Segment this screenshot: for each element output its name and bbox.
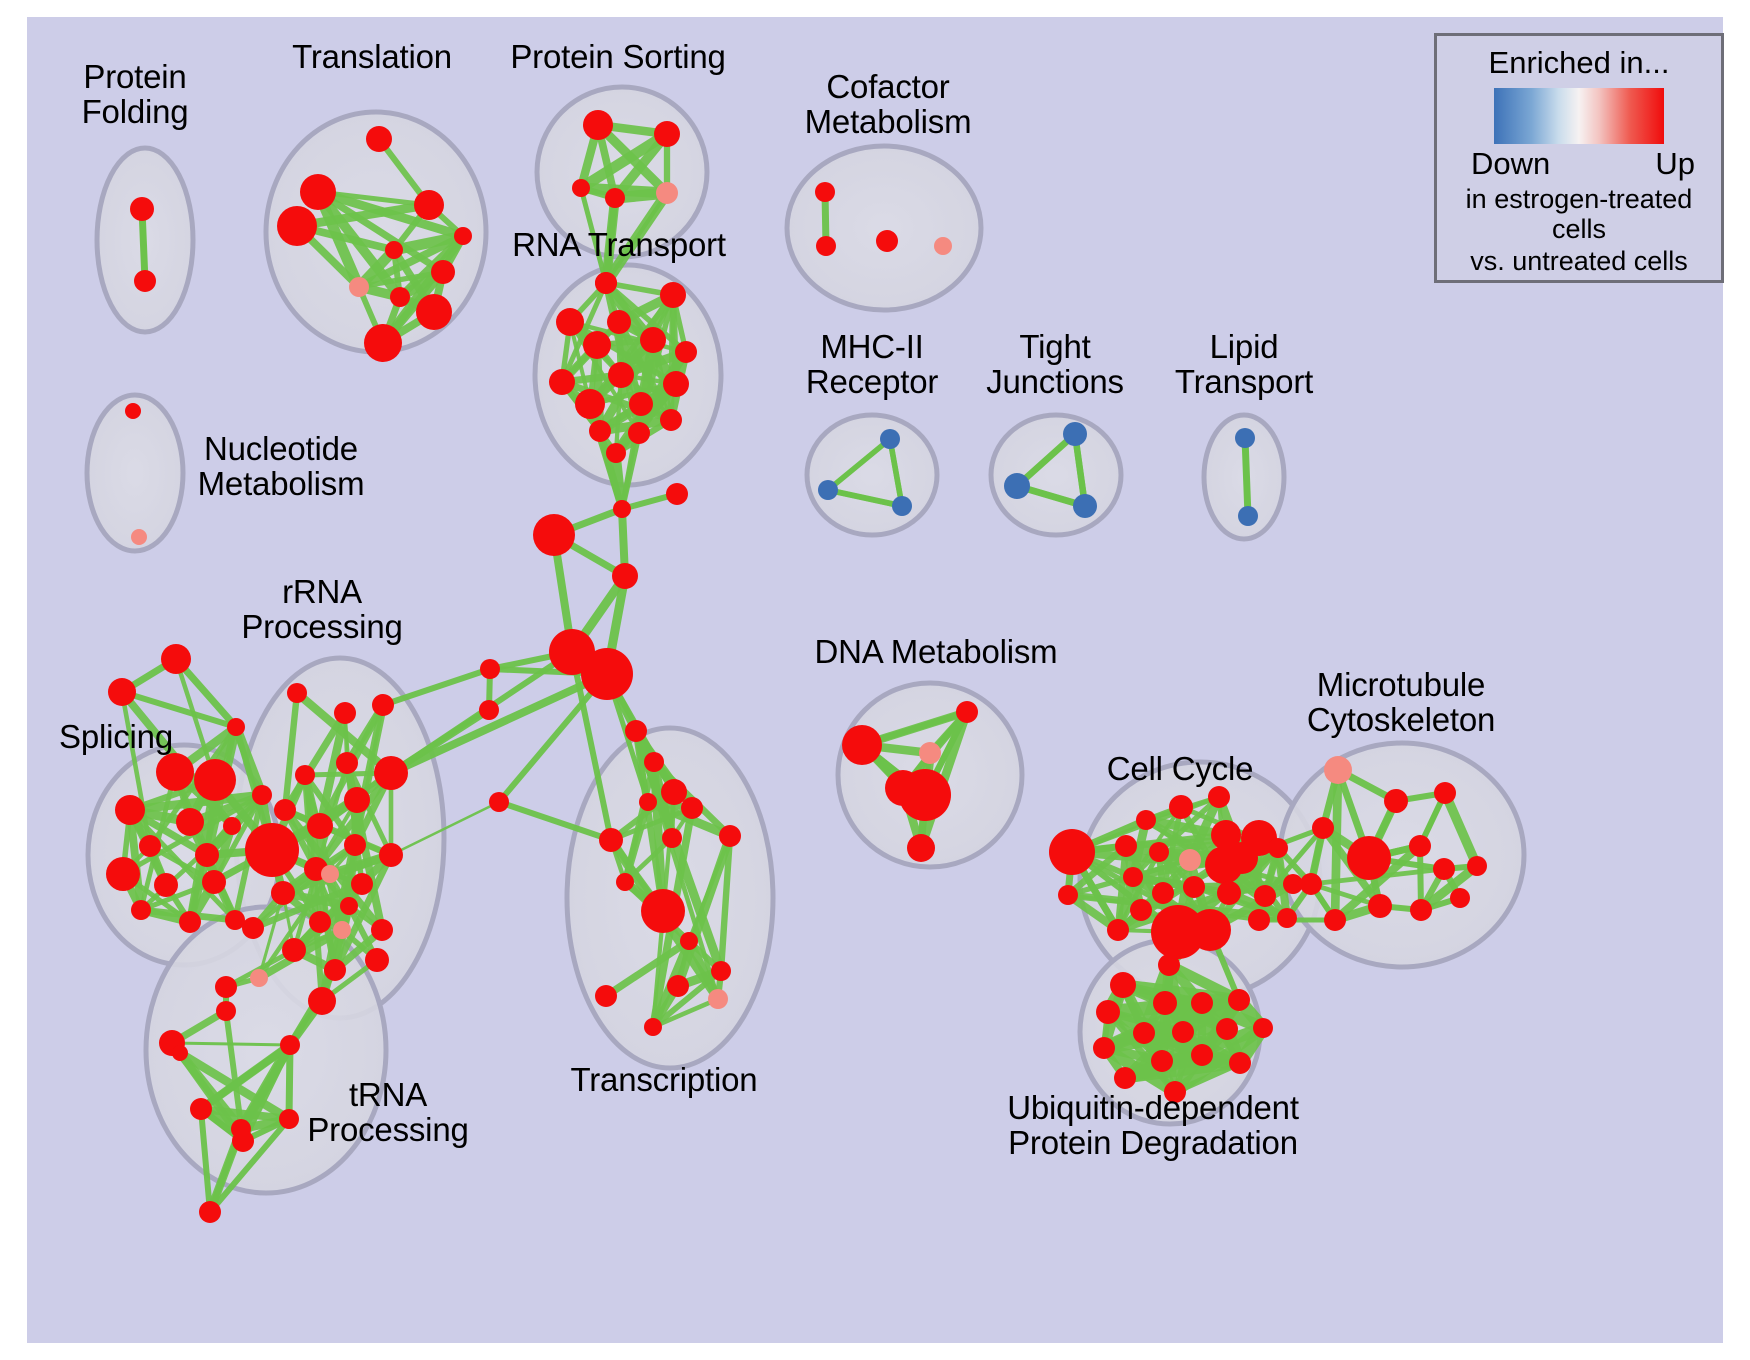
gene-set-node[interactable] [656, 182, 678, 204]
gene-set-node[interactable] [575, 389, 605, 419]
gene-set-node[interactable] [1107, 919, 1129, 941]
gene-set-node[interactable] [279, 1109, 299, 1129]
gene-set-node[interactable] [227, 718, 245, 736]
gene-set-node[interactable] [662, 828, 682, 848]
gene-set-node[interactable] [1253, 1018, 1273, 1038]
gene-set-node[interactable] [215, 976, 237, 998]
gene-set-node[interactable] [1189, 909, 1231, 951]
gene-set-node[interactable] [223, 817, 241, 835]
gene-set-node[interactable] [300, 174, 336, 210]
gene-set-node[interactable] [1093, 1037, 1115, 1059]
legend-end-labels: Down Up [1471, 146, 1695, 182]
gene-set-node[interactable] [1191, 992, 1213, 1014]
gene-set-node[interactable] [907, 834, 935, 862]
gene-set-node[interactable] [232, 1130, 254, 1152]
gene-set-node[interactable] [277, 206, 317, 246]
gene-set-node[interactable] [681, 797, 703, 819]
gene-set-node[interactable] [190, 1098, 212, 1120]
legend-subtitle-line-1: in estrogen-treated cells [1437, 184, 1721, 244]
gene-set-node[interactable] [416, 294, 452, 330]
gene-set-node[interactable] [640, 327, 666, 353]
gene-set-node[interactable] [379, 843, 403, 867]
gene-set-node[interactable] [934, 237, 952, 255]
gene-set-node[interactable] [344, 787, 370, 813]
gene-set-node[interactable] [899, 769, 951, 821]
gene-set-node[interactable] [589, 420, 611, 442]
gene-set-node[interactable] [1312, 817, 1334, 839]
gene-set-node[interactable] [454, 227, 472, 245]
gene-set-node[interactable] [816, 236, 836, 256]
gene-set-node[interactable] [1228, 989, 1250, 1011]
gene-set-node[interactable] [1217, 881, 1241, 905]
gene-set-node[interactable] [334, 702, 356, 724]
gene-set-node[interactable] [616, 873, 634, 891]
gene-set-node[interactable] [431, 260, 455, 284]
gene-set-node[interactable] [125, 403, 141, 419]
gene-set-node[interactable] [1268, 838, 1288, 858]
gene-set-node[interactable] [660, 409, 682, 431]
gene-set-node[interactable] [644, 752, 664, 772]
gene-set-node[interactable] [1153, 991, 1177, 1015]
gene-set-node[interactable] [1324, 909, 1346, 931]
legend-panel: Enriched in... Down Up in estrogen-treat… [1434, 33, 1724, 283]
gene-set-node[interactable] [641, 889, 685, 933]
gene-set-node[interactable] [1149, 842, 1169, 862]
gene-set-node[interactable] [115, 795, 145, 825]
gene-set-node[interactable] [815, 182, 835, 202]
gene-set-node[interactable] [1172, 1021, 1194, 1043]
gene-set-node[interactable] [644, 1018, 662, 1036]
gene-set-node[interactable] [1114, 1067, 1136, 1089]
gene-set-node[interactable] [1096, 1000, 1120, 1024]
gene-set-node[interactable] [1254, 885, 1276, 907]
gene-set-node[interactable] [654, 121, 680, 147]
gene-set-node[interactable] [629, 392, 653, 416]
legend-up-label: Up [1655, 146, 1695, 182]
gene-set-node[interactable] [154, 873, 178, 897]
gene-set-node[interactable] [661, 779, 687, 805]
edge [172, 1043, 290, 1045]
figure-canvas: ProteinFoldingTranslationProtein Sorting… [0, 0, 1750, 1360]
gene-set-node[interactable] [572, 179, 590, 197]
legend-down-label: Down [1471, 146, 1550, 182]
gene-set-node[interactable] [1151, 1050, 1173, 1072]
gene-set-node[interactable] [1226, 842, 1258, 874]
gene-set-node[interactable] [1467, 856, 1487, 876]
gene-set-node[interactable] [349, 277, 369, 297]
gene-set-node[interactable] [245, 823, 299, 877]
gene-set-node[interactable] [606, 443, 626, 463]
gene-set-node[interactable] [1410, 899, 1432, 921]
gene-set-node[interactable] [666, 483, 688, 505]
edge [289, 1045, 290, 1119]
gene-set-node[interactable] [372, 694, 394, 716]
gene-set-node[interactable] [250, 969, 268, 987]
gene-set-node[interactable] [156, 753, 194, 791]
gene-set-node[interactable] [608, 362, 634, 388]
gene-set-node[interactable] [199, 1201, 221, 1223]
gene-set-node[interactable] [956, 701, 978, 723]
gene-set-node[interactable] [1115, 835, 1137, 857]
legend-title: Enriched in... [1437, 45, 1721, 81]
gene-set-node[interactable] [202, 870, 226, 894]
gene-set-node[interactable] [1238, 506, 1258, 526]
gene-set-node[interactable] [1347, 836, 1391, 880]
gene-set-node[interactable] [414, 190, 444, 220]
gene-set-node[interactable] [336, 752, 358, 774]
gene-set-node[interactable] [295, 765, 315, 785]
gene-set-node[interactable] [131, 529, 147, 545]
gene-set-node[interactable] [612, 563, 638, 589]
gene-set-node[interactable] [605, 188, 625, 208]
gene-set-node[interactable] [1063, 422, 1087, 446]
gene-set-node[interactable] [613, 500, 631, 518]
gene-set-node[interactable] [1152, 882, 1174, 904]
gene-set-node[interactable] [1208, 786, 1230, 808]
gene-set-node[interactable] [549, 369, 575, 395]
gene-set-node[interactable] [607, 310, 631, 334]
gene-set-node[interactable] [216, 1001, 236, 1021]
gene-set-node[interactable] [280, 1035, 300, 1055]
gene-set-node[interactable] [480, 659, 500, 679]
gene-set-node[interactable] [1248, 909, 1270, 931]
gene-set-node[interactable] [479, 700, 499, 720]
gene-set-node[interactable] [1158, 954, 1180, 976]
gene-set-node[interactable] [134, 270, 156, 292]
gene-set-node[interactable] [1004, 473, 1030, 499]
gene-set-node[interactable] [880, 429, 900, 449]
gene-set-node[interactable] [242, 917, 264, 939]
gene-set-node[interactable] [1123, 867, 1143, 887]
gene-set-node[interactable] [351, 873, 373, 895]
gene-set-node[interactable] [599, 828, 623, 852]
gene-set-node[interactable] [139, 835, 161, 857]
gene-set-node[interactable] [385, 241, 403, 259]
cluster-ellipse-protein-sorting[interactable] [537, 87, 707, 257]
gene-set-node[interactable] [333, 921, 351, 939]
gene-set-node[interactable] [1130, 899, 1152, 921]
gene-set-node[interactable] [287, 683, 307, 703]
gene-set-node[interactable] [1169, 795, 1193, 819]
gene-set-node[interactable] [282, 938, 306, 962]
gene-set-node[interactable] [108, 678, 136, 706]
gene-set-node[interactable] [366, 126, 392, 152]
gene-set-node[interactable] [663, 371, 689, 397]
gene-set-node[interactable] [719, 825, 741, 847]
gene-set-node[interactable] [130, 197, 154, 221]
gene-set-node[interactable] [364, 324, 402, 362]
gene-set-node[interactable] [595, 985, 617, 1007]
gene-set-node[interactable] [892, 496, 912, 516]
gene-set-node[interactable] [179, 911, 201, 933]
gene-set-node[interactable] [1277, 908, 1297, 928]
gene-set-node[interactable] [556, 308, 584, 336]
gene-set-node[interactable] [371, 919, 393, 941]
gene-set-node[interactable] [309, 911, 331, 933]
gene-set-node[interactable] [1433, 858, 1455, 880]
gene-set-node[interactable] [625, 720, 647, 742]
gene-set-node[interactable] [390, 287, 410, 307]
gene-set-node[interactable] [583, 110, 613, 140]
gene-set-node[interactable] [711, 961, 731, 981]
gene-set-node[interactable] [274, 799, 296, 821]
gene-set-node[interactable] [1384, 789, 1408, 813]
gene-set-node[interactable] [1434, 782, 1456, 804]
gene-set-node[interactable] [628, 422, 650, 444]
gene-set-node[interactable] [1235, 428, 1255, 448]
gene-set-node[interactable] [194, 759, 236, 801]
gene-set-node[interactable] [308, 987, 336, 1015]
cluster-ellipse-cofactor-metabolism[interactable] [787, 146, 981, 310]
gene-set-node[interactable] [131, 900, 151, 920]
gene-set-node[interactable] [675, 341, 697, 363]
gene-set-node[interactable] [583, 331, 611, 359]
gene-set-node[interactable] [1409, 835, 1431, 857]
gene-set-node[interactable] [307, 813, 333, 839]
gene-set-node[interactable] [1216, 1018, 1238, 1040]
edge [1245, 438, 1248, 516]
gene-set-node[interactable] [1133, 1022, 1155, 1044]
gene-set-node[interactable] [340, 897, 358, 915]
gene-set-node[interactable] [324, 959, 346, 981]
gene-set-node[interactable] [708, 989, 728, 1009]
gene-set-node[interactable] [1110, 972, 1136, 998]
gene-set-node[interactable] [1136, 810, 1156, 830]
gene-set-node[interactable] [271, 881, 295, 905]
gene-set-node[interactable] [225, 910, 245, 930]
gene-set-node[interactable] [1058, 885, 1078, 905]
gene-set-node[interactable] [344, 834, 366, 856]
gene-set-node[interactable] [489, 792, 509, 812]
gene-set-node[interactable] [639, 793, 657, 811]
gene-set-node[interactable] [252, 785, 272, 805]
gene-set-node[interactable] [172, 1045, 188, 1061]
gene-set-node[interactable] [1049, 829, 1095, 875]
gene-set-node[interactable] [374, 756, 408, 790]
gene-set-node[interactable] [680, 932, 698, 950]
gene-set-node[interactable] [919, 742, 941, 764]
gene-set-node[interactable] [195, 843, 219, 867]
legend-color-scale [1494, 88, 1664, 144]
gene-set-node[interactable] [161, 644, 191, 674]
gene-set-node[interactable] [1300, 873, 1322, 895]
gene-set-node[interactable] [581, 648, 633, 700]
gene-set-node[interactable] [1191, 1044, 1213, 1066]
gene-set-node[interactable] [595, 272, 617, 294]
gene-set-node[interactable] [533, 514, 575, 556]
gene-set-node[interactable] [1450, 888, 1470, 908]
gene-set-node[interactable] [106, 857, 140, 891]
gene-set-node[interactable] [176, 808, 204, 836]
gene-set-node[interactable] [876, 230, 898, 252]
gene-set-node[interactable] [1183, 876, 1205, 898]
legend-subtitle-line-2: vs. untreated cells [1437, 246, 1721, 276]
gene-set-node[interactable] [1179, 849, 1201, 871]
gene-set-node[interactable] [1229, 1052, 1251, 1074]
gene-set-node[interactable] [660, 282, 686, 308]
gene-set-node[interactable] [667, 975, 689, 997]
gene-set-node[interactable] [1368, 894, 1392, 918]
gene-set-node[interactable] [818, 480, 838, 500]
cluster-ellipse-mhc-ii-receptor[interactable] [807, 415, 937, 535]
gene-set-node[interactable] [365, 948, 389, 972]
gene-set-node[interactable] [842, 725, 882, 765]
gene-set-node[interactable] [1164, 1081, 1186, 1103]
gene-set-node[interactable] [1324, 756, 1352, 784]
gene-set-node[interactable] [321, 865, 339, 883]
gene-set-node[interactable] [1073, 494, 1097, 518]
